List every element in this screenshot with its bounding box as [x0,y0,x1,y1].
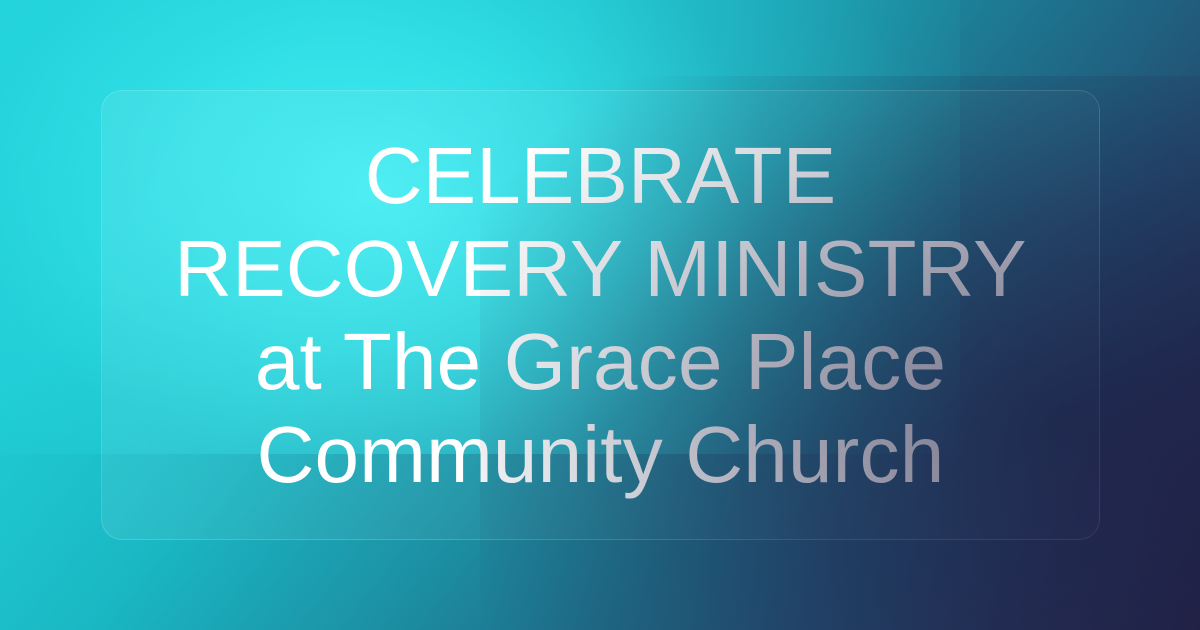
promo-banner: CELEBRATE RECOVERY MINISTRY at The Grace… [0,0,1200,630]
headline-line-2: RECOVERY MINISTRY [120,222,1081,315]
headline-line-1: CELEBRATE [120,129,1081,222]
headline-card: CELEBRATE RECOVERY MINISTRY at The Grace… [101,90,1100,540]
headline-line-4: Community Church [120,408,1081,501]
page-title: CELEBRATE RECOVERY MINISTRY at The Grace… [102,129,1099,501]
headline-line-3: at The Grace Place [120,315,1081,408]
